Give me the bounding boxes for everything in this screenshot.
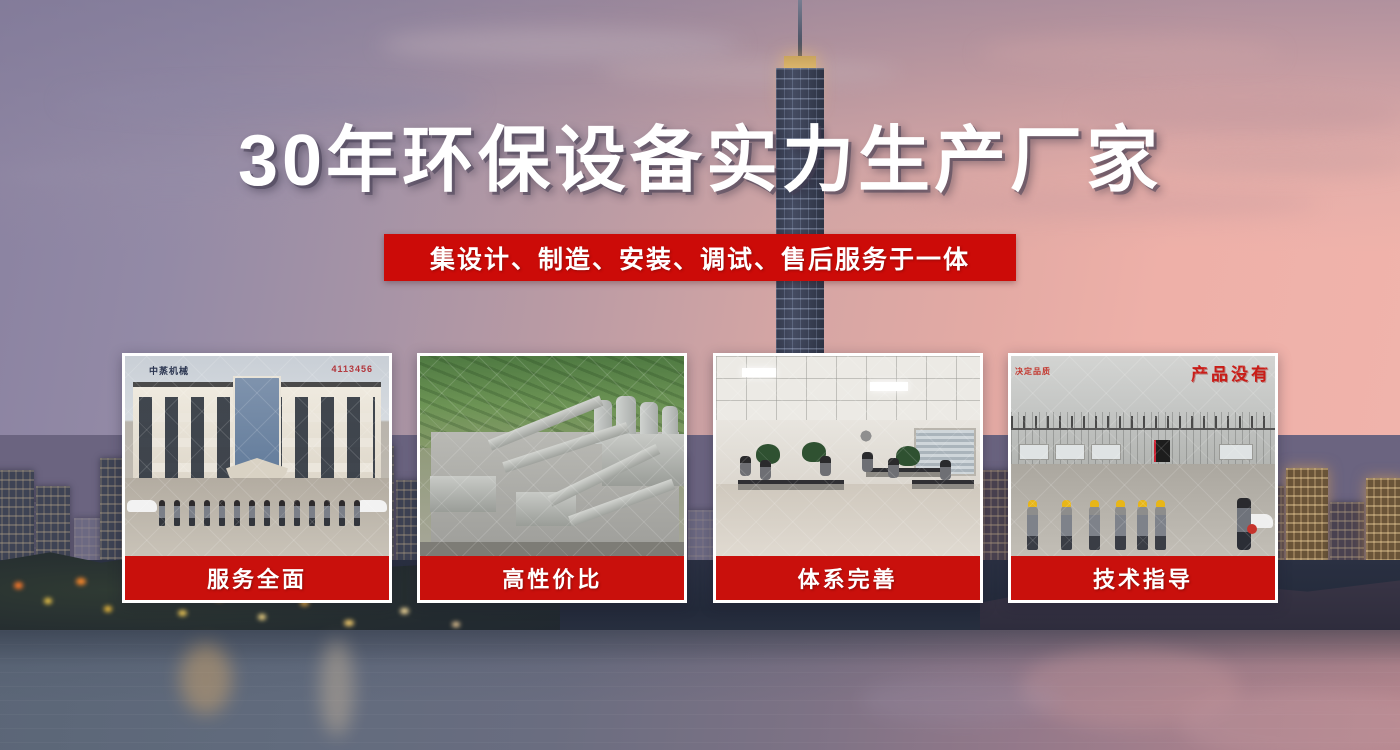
card-photo-factory-yard: 产品没有 决定品质 xyxy=(1011,356,1275,556)
wall-logo xyxy=(853,428,879,448)
feature-card-guidance[interactable]: 产品没有 决定品质 xyxy=(1008,353,1278,603)
office-ceiling xyxy=(716,356,980,420)
feature-card-value[interactable]: 高性价比 xyxy=(417,353,687,603)
office-floor xyxy=(716,484,980,556)
factory-door xyxy=(1154,440,1170,462)
card-photo-office-interior xyxy=(716,356,980,556)
building-phone-text: 4113456 xyxy=(331,364,373,374)
cloud xyxy=(60,88,480,114)
factory-slogan-text: 决定品质 xyxy=(1015,366,1051,377)
card-label-guidance: 技术指导 xyxy=(1011,556,1275,600)
building-sign-text: 中蒸机械 xyxy=(149,364,189,377)
promotional-banner: 30年环保设备实力生产厂家 集设计、制造、安装、调试、售后服务于一体 中蒸机械 … xyxy=(0,0,1400,750)
card-label-service: 服务全面 xyxy=(125,556,389,600)
red-helmet xyxy=(1247,524,1257,534)
feature-card-system[interactable]: 体系完善 xyxy=(713,353,983,603)
card-photo-aerial-plant xyxy=(420,356,684,556)
parked-car xyxy=(127,500,157,512)
page-title: 30年环保设备实力生产厂家 xyxy=(0,125,1400,197)
river-water xyxy=(0,630,1400,750)
cloud xyxy=(980,38,1280,68)
cloud xyxy=(600,60,900,84)
tower-spire xyxy=(798,0,802,58)
card-label-value: 高性价比 xyxy=(420,556,684,600)
card-photo-office-building: 中蒸机械 4113456 xyxy=(125,356,389,556)
subtitle-text: 集设计、制造、安装、调试、售后服务于一体 xyxy=(430,240,970,276)
card-label-system: 体系完善 xyxy=(716,556,980,600)
parked-car xyxy=(357,500,387,512)
roof-railing xyxy=(1011,416,1275,430)
subtitle-banner: 集设计、制造、安装、调试、售后服务于一体 xyxy=(384,234,1016,281)
cloud xyxy=(380,28,740,62)
feature-card-list: 中蒸机械 4113456 xyxy=(122,353,1278,603)
feature-card-service[interactable]: 中蒸机械 4113456 xyxy=(122,353,392,603)
factory-wall-text: 产品没有 xyxy=(1191,360,1271,385)
